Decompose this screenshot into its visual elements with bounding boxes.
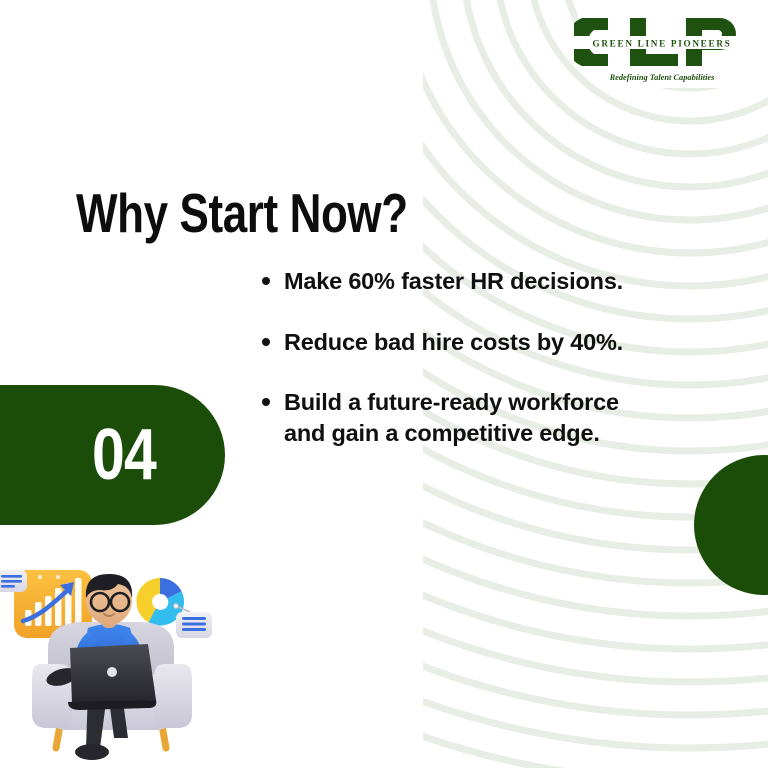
list-item-label: Reduce bad hire costs by 40%. [284, 327, 623, 358]
list-item: Make 60% faster HR decisions. [262, 266, 662, 297]
section-number-badge: 04 [0, 385, 225, 525]
page-title: Why Start Now? [76, 185, 408, 243]
logo-tagline: Redefining Talent Capabilities [609, 73, 715, 82]
benefits-list: Make 60% faster HR decisions. Reduce bad… [262, 266, 662, 448]
laptop-icon [68, 644, 156, 710]
list-item: Build a future-ready workforce and gain … [262, 387, 662, 448]
slide-canvas: GREEN LINE PIONEERS Redefining Talent Ca… [0, 0, 768, 768]
note-card-icon [0, 570, 27, 592]
bullet-dot-icon [262, 277, 270, 285]
bullet-dot-icon [262, 398, 270, 406]
analytics-illustration [0, 552, 220, 768]
list-item-label: Make 60% faster HR decisions. [284, 266, 623, 297]
list-item: Reduce bad hire costs by 40%. [262, 327, 662, 358]
bullet-dot-icon [262, 338, 270, 346]
logo-overlay-text: GREEN LINE PIONEERS [592, 39, 731, 49]
clp-logo: GREEN LINE PIONEERS Redefining Talent Ca… [574, 6, 750, 86]
list-item-label: Build a future-ready workforce and gain … [284, 387, 662, 448]
section-number-label: 04 [92, 419, 156, 491]
